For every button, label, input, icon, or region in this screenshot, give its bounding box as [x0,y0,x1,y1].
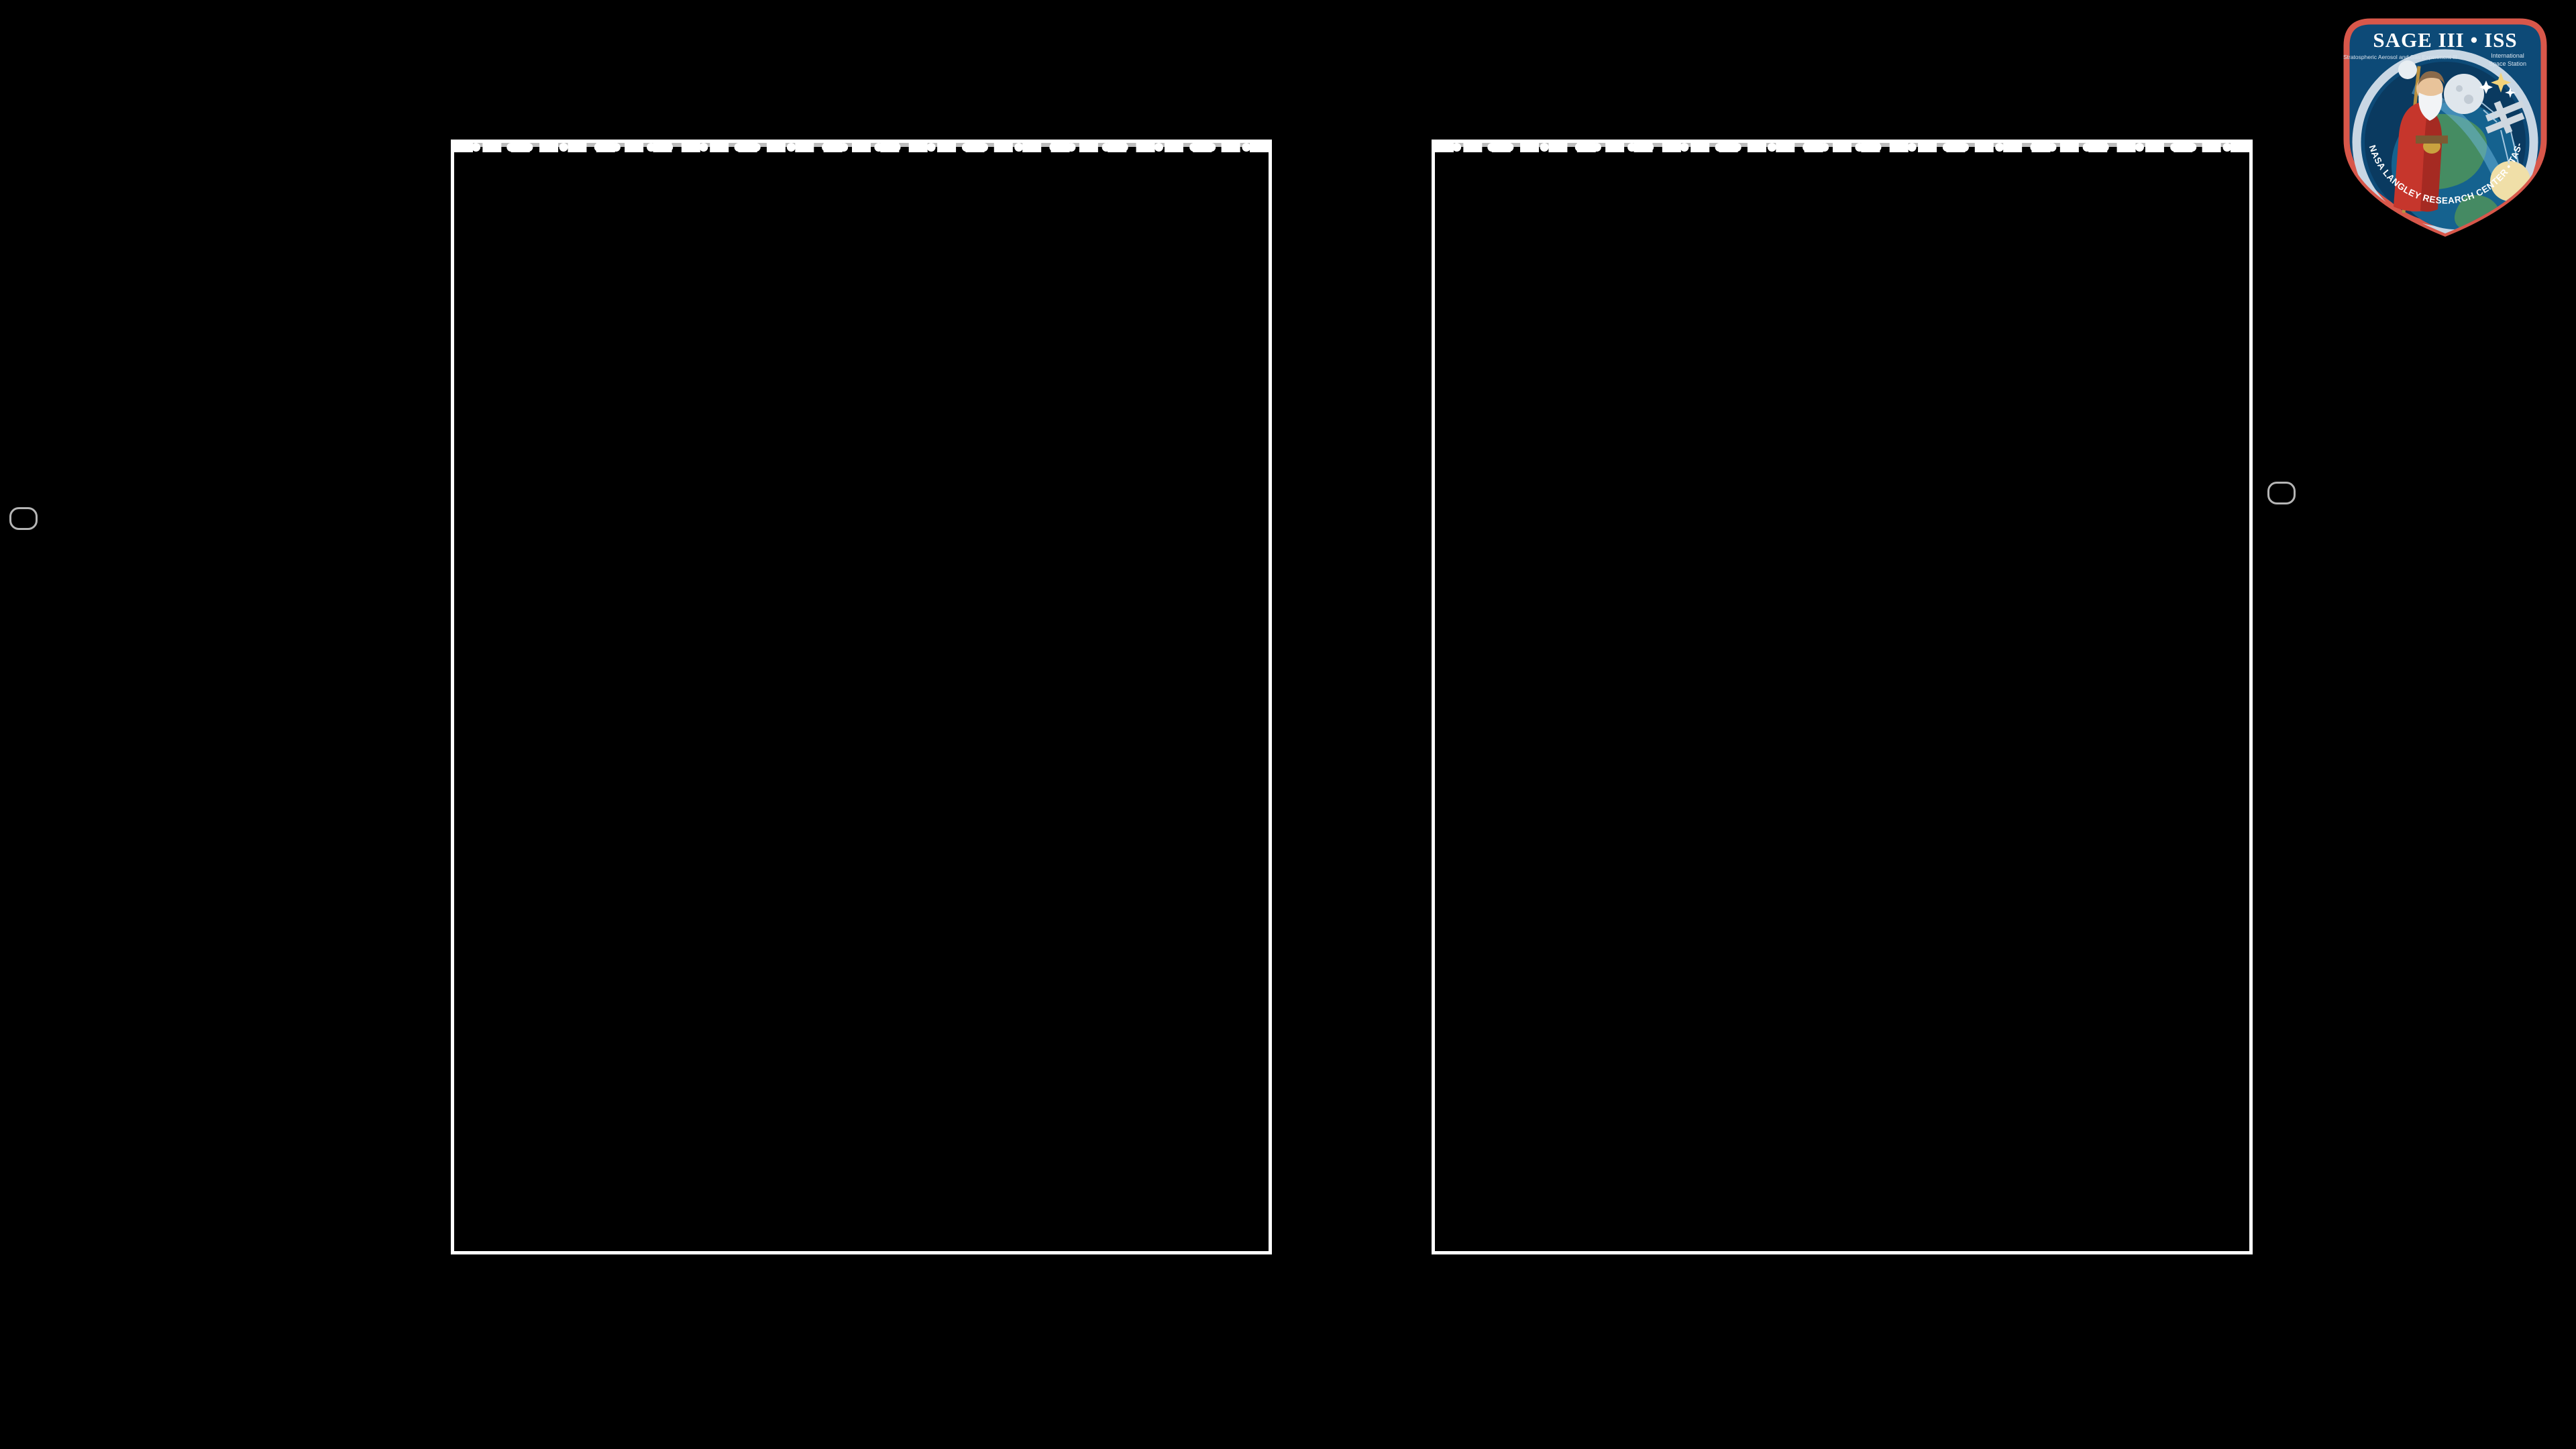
sunset-y-axis [1271,140,1424,1254]
sunset-plot-area [1432,140,2253,1254]
sunrise-profile-lines [454,143,1269,1251]
sunrise-y-axis [290,140,443,1254]
sunrise-plot-area [451,140,1272,1254]
sunset-profile-lines [1435,143,2249,1251]
sage-iii-iss-mission-patch-logo: SAGE III • ISS Stratospheric Aerosol and… [2328,8,2563,243]
sunset-x-axis [1432,1254,2253,1335]
sunset-legend[interactable] [2267,482,2296,504]
sunrise-legend[interactable] [9,507,38,530]
logo-subtitle-right-2: Space Station [2489,60,2526,67]
sunrise-x-axis [451,1254,1272,1335]
figure-canvas: SAGE III • ISS Stratospheric Aerosol and… [0,0,2576,1449]
logo-subtitle-left: Stratospheric Aerosol and Gas Experiment… [2343,54,2457,60]
logo-subtitle-right-1: International [2491,52,2524,59]
logo-title: SAGE III • ISS [2373,28,2517,52]
